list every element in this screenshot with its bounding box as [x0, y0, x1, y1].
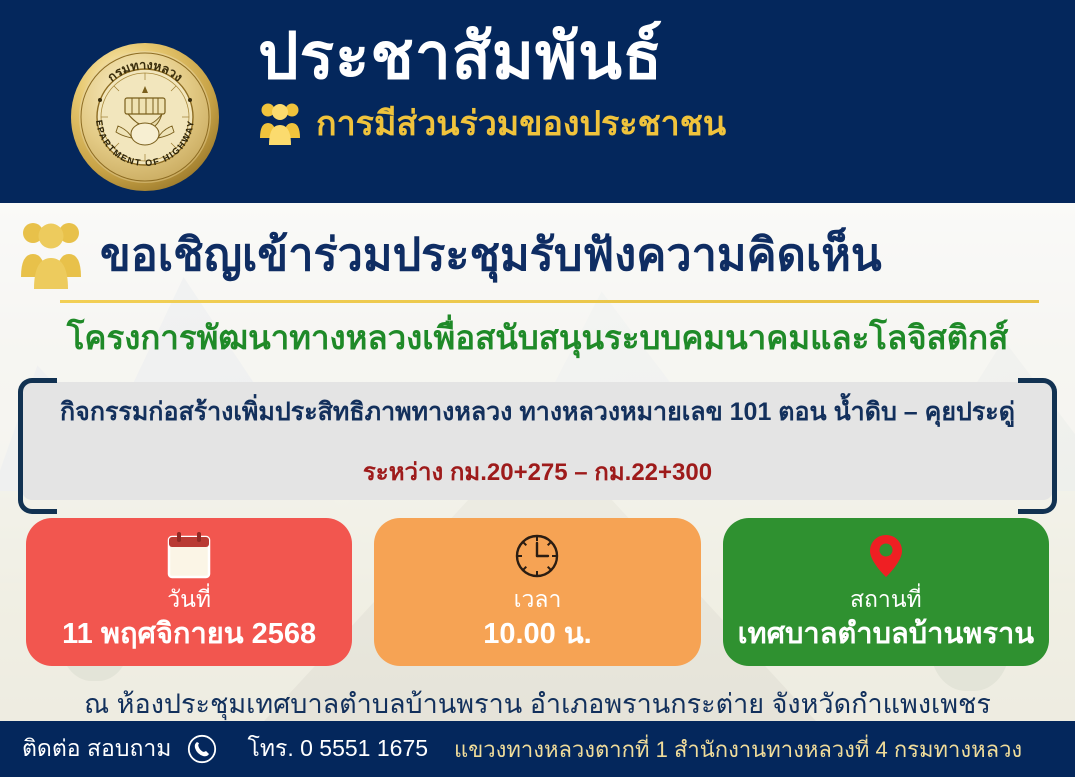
header-subtitle: การมีส่วนร่วมของประชาชน [316, 106, 726, 143]
footer-contact-label: ติดต่อ สอบถาม [22, 731, 171, 767]
page-title: ประชาสัมพันธ์ [258, 22, 1048, 91]
time-card-value: 10.00 น. [483, 616, 592, 652]
header-text-block: ประชาสัมพันธ์ การมีส่วนร่วมของประชาชน [258, 22, 1048, 150]
info-cards-row: วันที่ 11 พฤศจิกายน 2568 [0, 500, 1075, 666]
project-detail-box: กิจกรรมก่อสร้างเพิ่มประสิทธิภาพทางหลวง ท… [22, 382, 1053, 500]
footer-telephone[interactable]: โทร. 0 5551 1675 [247, 731, 428, 767]
project-detail-line-2: ระหว่าง กม.20+275 – กม.22+300 [363, 452, 712, 491]
date-card: วันที่ 11 พฤศจิกายน 2568 [26, 518, 352, 666]
place-card-value: เทศบาลตำบลบ้านพราน [738, 616, 1035, 652]
invitation-headline: ขอเชิญเข้าร่วมประชุมรับฟังความคิดเห็น [100, 230, 882, 280]
date-card-label: วันที่ [167, 586, 211, 614]
department-of-highways-seal-icon: กรมทางหลวง DEPARTMENT OF HIGHWAYS [70, 42, 220, 192]
project-subheadline: โครงการพัฒนาทางหลวงเพื่อสนับสนุนระบบคมนา… [0, 311, 1075, 364]
place-card-label: สถานที่ [850, 586, 922, 614]
main-content: ขอเชิญเข้าร่วมประชุมรับฟังความคิดเห็น โค… [0, 203, 1075, 721]
footer-organizations: แขวงทางหลวงตากที่ 1 สำนักงานทางหลวงที่ 4… [454, 732, 1022, 767]
date-card-value: 11 พฤศจิกายน 2568 [62, 616, 316, 652]
time-card-label: เวลา [514, 586, 562, 614]
headline-row: ขอเชิญเข้าร่วมประชุมรับฟังความคิดเห็น [0, 203, 1075, 294]
people-group-icon [18, 217, 84, 294]
time-card: เวลา 10.00 น. [374, 518, 700, 666]
calendar-icon [163, 530, 215, 582]
place-card: สถานที่ เทศบาลตำบลบ้านพราน [723, 518, 1049, 666]
header-subtitle-row: การมีส่วนร่วมของประชาชน [258, 99, 1048, 150]
venue-text: ณ ห้องประชุมเทศบาลตำบลบ้านพราน อำเภอพราน… [0, 682, 1075, 725]
header-bar: กรมทางหลวง DEPARTMENT OF HIGHWAYS ประชาส… [0, 0, 1075, 203]
map-pin-icon [860, 530, 912, 582]
project-detail-line-1: กิจกรรมก่อสร้างเพิ่มประสิทธิภาพทางหลวง ท… [60, 392, 1015, 432]
clock-icon [511, 530, 563, 582]
people-group-icon [258, 99, 302, 150]
footer-bar: ติดต่อ สอบถาม โทร. 0 5551 1675 แขวงทางหล… [0, 721, 1075, 777]
poster-root: กรมทางหลวง DEPARTMENT OF HIGHWAYS ประชาส… [0, 0, 1075, 777]
gold-divider [60, 300, 1039, 303]
phone-circle-icon [187, 734, 217, 764]
